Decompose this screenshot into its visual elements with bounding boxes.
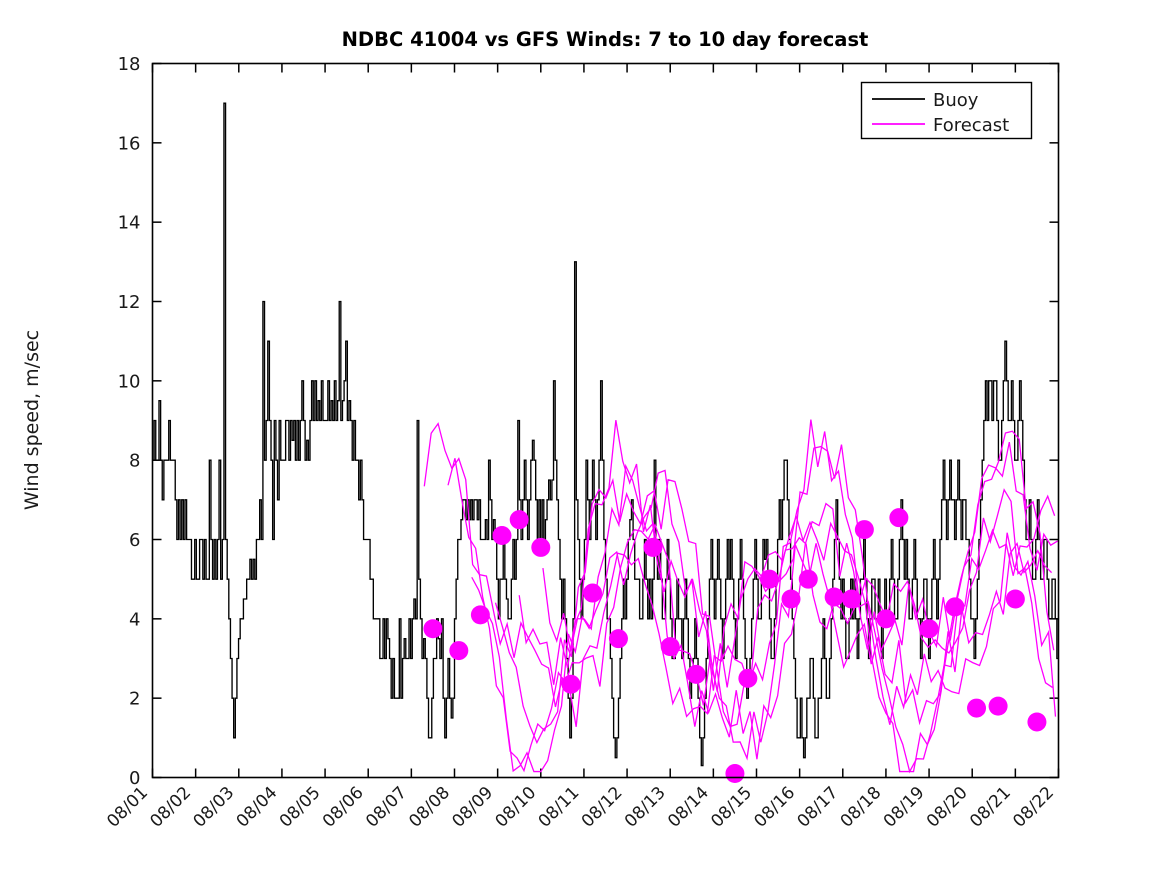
forecast-marker-dot [799,570,818,589]
y-tick-label: 6 [129,530,140,551]
legend-label-forecast: Forecast [933,115,1009,136]
forecast-marker-dot [561,675,580,694]
forecast-marker-dot [609,629,628,648]
legend-label-buoy: Buoy [933,90,979,111]
legend: Buoy Forecast [862,83,1032,139]
forecast-marker-dot [967,699,986,718]
y-tick-label: 4 [129,609,140,630]
forecast-marker-dot [449,641,468,660]
chart-figure: NDBC 41004 vs GFS Winds: 7 to 10 day for… [0,0,1167,875]
forecast-marker-dot [782,590,801,609]
forecast-marker-dot [738,669,757,688]
y-tick-label: 14 [118,213,141,234]
forecast-marker-dot [842,590,861,609]
y-tick-label: 2 [129,689,140,710]
y-tick-label: 8 [129,451,140,472]
forecast-marker-dot [583,584,602,603]
forecast-marker-dot [725,764,744,783]
forecast-marker-dot [661,637,680,656]
page-title: NDBC 41004 vs GFS Winds: 7 to 10 day for… [342,28,869,51]
forecast-marker-dot [510,510,529,529]
y-tick-label: 12 [118,292,141,313]
y-tick-label: 10 [118,371,141,392]
forecast-marker-dot [471,605,490,624]
forecast-marker-dot [1006,590,1025,609]
forecast-marker-dot [945,597,964,616]
forecast-marker-dot [920,619,939,638]
forecast-marker-dot [855,520,874,539]
forecast-marker-dot [825,588,844,607]
forecast-marker-dot [643,538,662,557]
forecast-marker-dot [1027,712,1046,731]
forecast-marker-dot [423,619,442,638]
forecast-marker-dot [492,526,511,545]
y-tick-label: 18 [118,54,141,75]
y-tick-label: 16 [118,133,141,154]
forecast-marker-dot [989,697,1008,716]
wind-speed-chart: NDBC 41004 vs GFS Winds: 7 to 10 day for… [0,0,1167,875]
forecast-marker-dot [531,538,550,557]
y-axis-label: Wind speed, m/sec [21,330,43,510]
forecast-marker-dot [889,508,908,527]
forecast-marker-dot [760,570,779,589]
forecast-marker-dot [687,665,706,684]
forecast-marker-dot [876,609,895,628]
